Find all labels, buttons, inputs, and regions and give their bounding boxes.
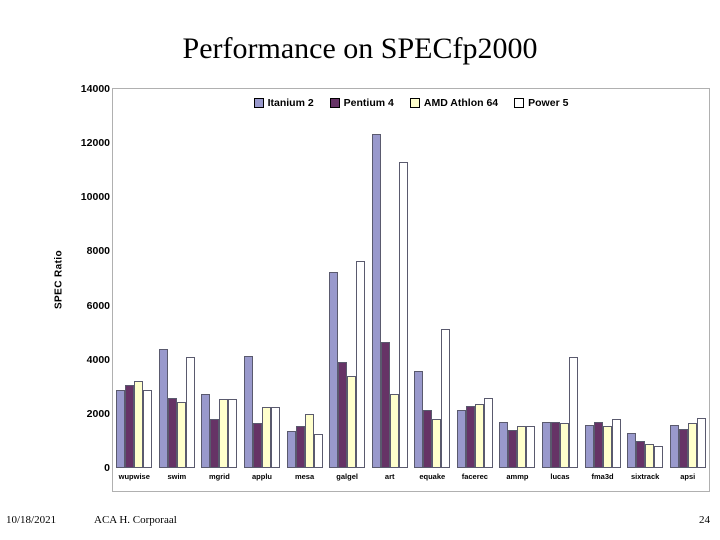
bar xyxy=(381,342,390,468)
bar-group xyxy=(539,89,582,468)
x-tick-label: apsi xyxy=(666,472,709,481)
bar xyxy=(168,398,177,468)
bar xyxy=(329,272,338,468)
bar xyxy=(551,422,560,468)
bar-group xyxy=(368,89,411,468)
x-tick-label: swim xyxy=(156,472,199,481)
bar xyxy=(287,431,296,468)
bar xyxy=(697,418,706,468)
x-tick-label: ammp xyxy=(496,472,539,481)
bar xyxy=(134,381,143,468)
bar xyxy=(526,426,535,468)
bar xyxy=(475,404,484,468)
bar xyxy=(636,441,645,468)
bar-group xyxy=(581,89,624,468)
y-tick-label: 4000 xyxy=(32,354,110,366)
bar xyxy=(670,425,679,468)
y-axis-ticks: 02000400060008000100001200014000 xyxy=(28,84,110,502)
bar-group xyxy=(283,89,326,468)
bar-group xyxy=(666,89,709,468)
bar xyxy=(560,423,569,468)
x-tick-label: mgrid xyxy=(198,472,241,481)
x-tick-label: lucas xyxy=(539,472,582,481)
bar-group xyxy=(411,89,454,468)
bar xyxy=(603,426,612,468)
bar xyxy=(125,385,134,468)
bar xyxy=(679,429,688,468)
x-tick-label: art xyxy=(368,472,411,481)
y-tick-label: 0 xyxy=(32,462,110,474)
bar xyxy=(228,399,237,468)
bar xyxy=(542,422,551,468)
bar-group xyxy=(198,89,241,468)
bar xyxy=(508,430,517,468)
bar xyxy=(457,410,466,468)
bar-group xyxy=(241,89,284,468)
plot-bars xyxy=(113,89,709,468)
bar-group xyxy=(624,89,667,468)
bar-group xyxy=(156,89,199,468)
bar xyxy=(612,419,621,468)
footer-page-number: 24 xyxy=(699,514,710,526)
bar xyxy=(271,407,280,468)
bar xyxy=(441,329,450,468)
bar-group xyxy=(454,89,497,468)
bar xyxy=(314,434,323,468)
x-axis-labels: wupwiseswimmgridapplumesagalgelartequake… xyxy=(113,472,709,496)
bar xyxy=(654,446,663,468)
bar xyxy=(688,423,697,468)
bar xyxy=(159,349,168,468)
bar xyxy=(116,390,125,469)
x-tick-label: facerec xyxy=(454,472,497,481)
bar xyxy=(262,407,271,468)
bar xyxy=(594,422,603,468)
bar xyxy=(645,444,654,468)
bar xyxy=(484,398,493,468)
bar xyxy=(432,419,441,468)
x-tick-label: wupwise xyxy=(113,472,156,481)
bar xyxy=(423,410,432,468)
bar xyxy=(347,376,356,468)
bar xyxy=(244,356,253,468)
bar xyxy=(253,423,262,468)
bar xyxy=(186,357,195,468)
x-tick-label: applu xyxy=(241,472,284,481)
bar-group xyxy=(326,89,369,468)
bar xyxy=(466,406,475,468)
footer-date: 10/18/2021 xyxy=(6,514,56,526)
x-tick-label: mesa xyxy=(283,472,326,481)
x-tick-label: fma3d xyxy=(581,472,624,481)
bar xyxy=(585,425,594,468)
bar xyxy=(627,433,636,468)
bar xyxy=(338,362,347,468)
bar xyxy=(305,414,314,468)
bar xyxy=(499,422,508,468)
bar xyxy=(399,162,408,468)
chart-container: SPEC Ratio 02000400060008000100001200014… xyxy=(28,84,714,502)
bar xyxy=(296,426,305,468)
y-tick-label: 10000 xyxy=(32,191,110,203)
bar xyxy=(219,399,228,468)
bar xyxy=(143,390,152,469)
x-tick-label: sixtrack xyxy=(624,472,667,481)
y-tick-label: 8000 xyxy=(32,245,110,257)
page-title: Performance on SPECfp2000 xyxy=(0,32,720,66)
bar xyxy=(517,426,526,468)
bar xyxy=(390,394,399,468)
bar xyxy=(210,419,219,468)
bar xyxy=(356,261,365,468)
bar-group xyxy=(496,89,539,468)
x-tick-label: equake xyxy=(411,472,454,481)
y-tick-label: 12000 xyxy=(32,137,110,149)
bar-group xyxy=(113,89,156,468)
bar xyxy=(372,134,381,468)
x-tick-label: galgel xyxy=(326,472,369,481)
bar xyxy=(201,394,210,468)
y-tick-label: 2000 xyxy=(32,408,110,420)
bar xyxy=(414,371,423,468)
footer-author: ACA H. Corporaal xyxy=(94,514,177,526)
bar xyxy=(569,357,578,468)
y-tick-label: 14000 xyxy=(32,83,110,95)
y-tick-label: 6000 xyxy=(32,300,110,312)
bar xyxy=(177,402,186,468)
